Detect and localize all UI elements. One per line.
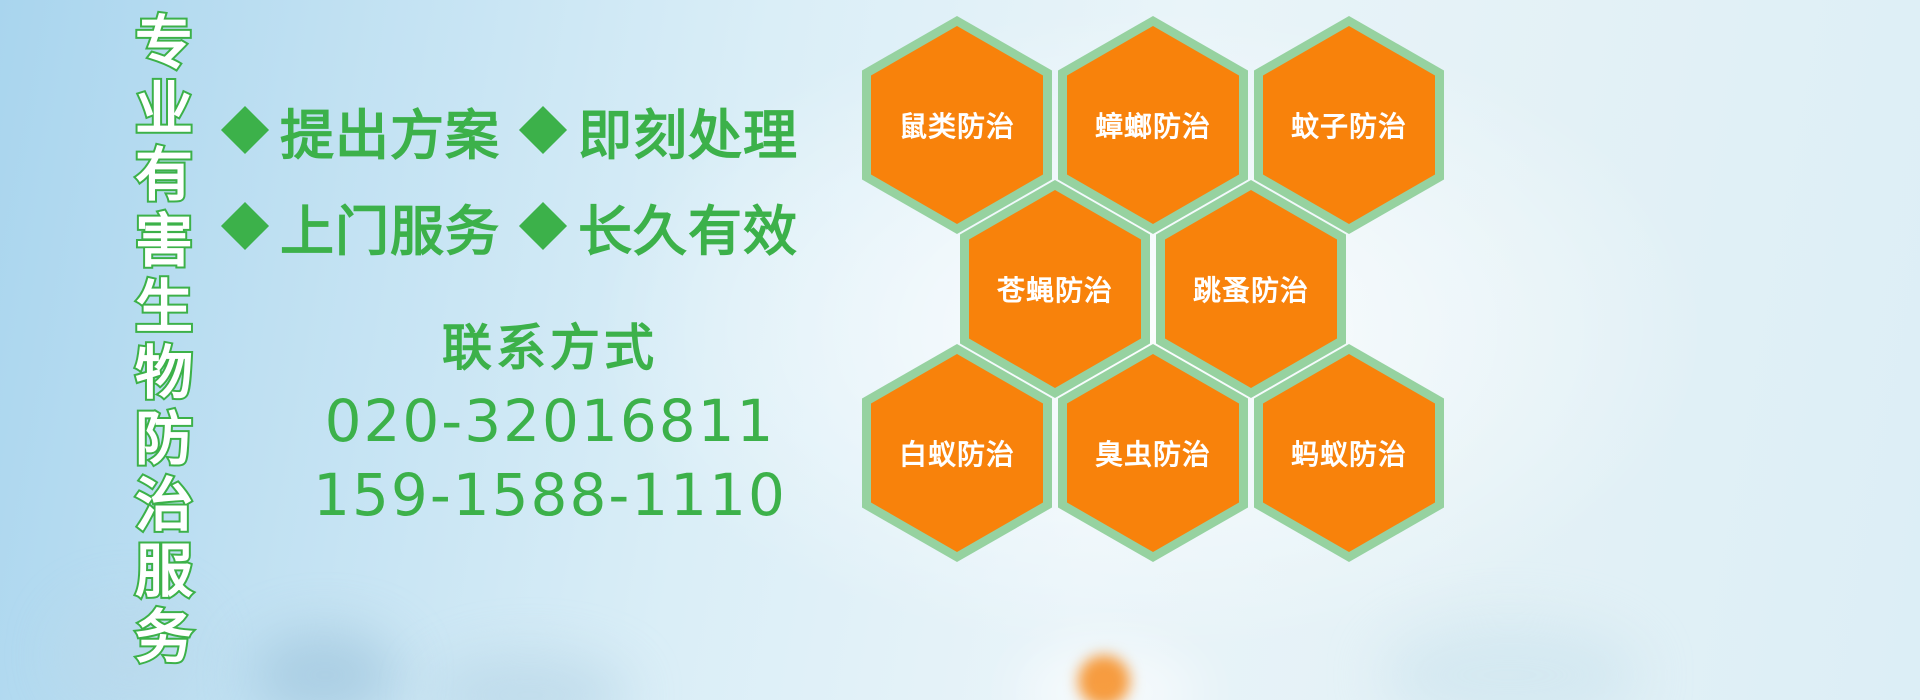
service-hex-label: 臭虫防治 bbox=[1095, 433, 1211, 473]
pest-control-banner: 专 业 有 害 生 物 防 治 服 务 提出方案 即刻处理 上门服务 bbox=[0, 0, 1920, 700]
feature-row: 提出方案 即刻处理 bbox=[228, 82, 868, 178]
background-bokeh-orange bbox=[1078, 655, 1130, 700]
contact-heading: 联系方式 bbox=[300, 312, 800, 384]
vertical-headline-char: 专 bbox=[135, 10, 193, 76]
vertical-headline-char: 服 bbox=[135, 538, 193, 604]
phone-number-mobile[interactable]: 159-1588-1110 bbox=[300, 458, 800, 532]
service-hex-label: 白蚁防治 bbox=[899, 433, 1015, 473]
vertical-headline-char: 治 bbox=[135, 472, 193, 538]
feature-item-on-site-service: 上门服务 bbox=[228, 187, 500, 266]
service-hex-label: 蚊子防治 bbox=[1291, 105, 1407, 145]
feature-label: 提出方案 bbox=[280, 91, 500, 170]
feature-label: 长久有效 bbox=[578, 187, 798, 266]
diamond-icon bbox=[221, 106, 269, 154]
service-hex-label: 蟑螂防治 bbox=[1095, 105, 1211, 145]
feature-label: 上门服务 bbox=[280, 187, 500, 266]
background-bokeh bbox=[430, 655, 630, 700]
feature-row: 上门服务 长久有效 bbox=[228, 178, 868, 274]
background-bokeh bbox=[250, 630, 400, 700]
feature-item-propose-plan: 提出方案 bbox=[228, 91, 500, 170]
background-bokeh bbox=[1020, 645, 1200, 700]
vertical-headline-char: 业 bbox=[135, 76, 193, 142]
diamond-icon bbox=[221, 202, 269, 250]
vertical-headline-char: 物 bbox=[135, 340, 193, 406]
vertical-headline: 专 业 有 害 生 物 防 治 服 务 bbox=[118, 10, 210, 690]
feature-label: 即刻处理 bbox=[578, 91, 798, 170]
service-hex-label: 苍蝇防治 bbox=[997, 269, 1113, 309]
service-hex-label: 跳蚤防治 bbox=[1193, 269, 1309, 309]
diamond-icon bbox=[519, 202, 567, 250]
service-hex-label: 鼠类防治 bbox=[899, 105, 1015, 145]
vertical-headline-char: 生 bbox=[135, 274, 193, 340]
feature-item-immediate-handling: 即刻处理 bbox=[526, 91, 798, 170]
phone-number-landline[interactable]: 020-32016811 bbox=[300, 384, 800, 458]
contact-block: 联系方式 020-32016811 159-1588-1110 bbox=[300, 312, 800, 532]
feature-item-long-lasting: 长久有效 bbox=[526, 187, 798, 266]
vertical-headline-char: 有 bbox=[135, 142, 193, 208]
background-bokeh bbox=[1380, 620, 1640, 700]
service-hex-label: 蚂蚁防治 bbox=[1291, 433, 1407, 473]
vertical-headline-char: 务 bbox=[135, 604, 193, 670]
diamond-icon bbox=[519, 106, 567, 154]
feature-list: 提出方案 即刻处理 上门服务 长久有效 bbox=[228, 82, 868, 274]
service-hexagon-grid: 鼠类防治 蟑螂防治 蚊子防治 苍蝇防治 跳蚤防治 白蚁防治 臭虫防治 蚂蚁 bbox=[862, 8, 1462, 553]
vertical-headline-char: 防 bbox=[135, 406, 193, 472]
vertical-headline-char: 害 bbox=[135, 208, 193, 274]
